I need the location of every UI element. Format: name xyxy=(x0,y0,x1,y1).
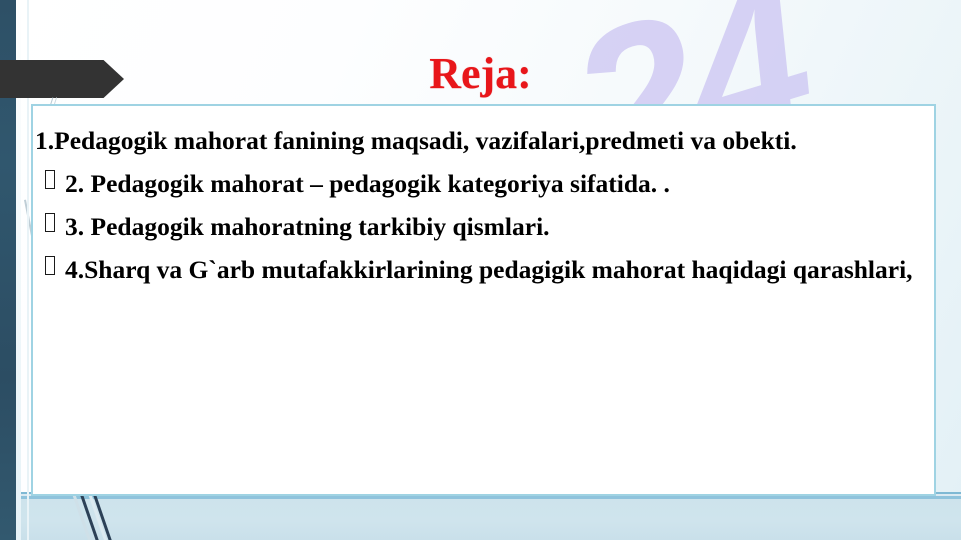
list-item-label: 2. Pedagogik mahorat – pedagogik kategor… xyxy=(65,167,922,200)
page-title: Reja: xyxy=(0,52,961,96)
list-item-label: 3. Pedagogik mahoratning tarkibiy qismla… xyxy=(65,210,922,243)
list-item-label: 1.Pedagogik mahorat fanining maqsadi, va… xyxy=(35,124,922,157)
list-item: 3. Pedagogik mahoratning tarkibiy qismla… xyxy=(35,210,922,243)
agenda-list: 1.Pedagogik mahorat fanining maqsadi, va… xyxy=(31,116,936,287)
list-item: 4.Sharq va G`arb mutafakkirlarining peda… xyxy=(35,253,922,286)
list-bullet-box xyxy=(35,210,65,238)
bottom-rule-inner xyxy=(0,496,961,499)
slide-canvas: 24 Hujjat Reja: 1.Pedagogik mahorat fani… xyxy=(0,0,961,540)
list-bullet-box xyxy=(35,167,65,195)
list-item: 1.Pedagogik mahorat fanining maqsadi, va… xyxy=(35,124,922,157)
list-item-label: 4.Sharq va G`arb mutafakkirlarining peda… xyxy=(65,253,922,286)
missing-glyph-icon xyxy=(45,170,55,189)
list-item: 2. Pedagogik mahorat – pedagogik kategor… xyxy=(35,167,922,200)
missing-glyph-icon xyxy=(45,256,55,275)
list-bullet-box xyxy=(35,253,65,281)
bottom-band xyxy=(0,498,961,540)
missing-glyph-icon xyxy=(45,213,55,232)
